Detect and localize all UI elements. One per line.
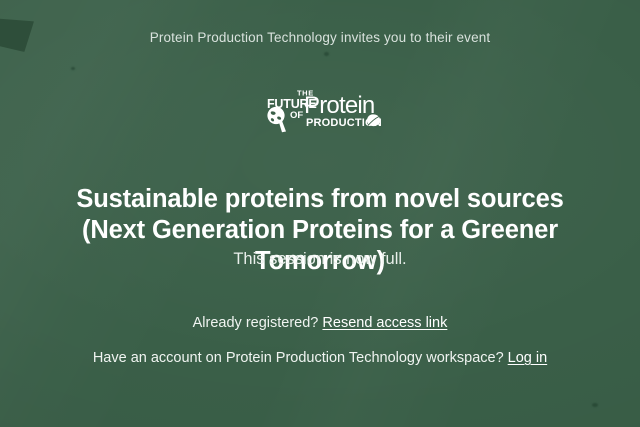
registered-prompt-label: Already registered? [193,315,319,331]
logo-of: OF [290,110,303,121]
logo-icon: THE FUTURE OF Protein PRODUCTION [259,86,381,136]
session-status: This session is now full. [0,248,640,270]
footer-links: Already registered? Resend access link H… [60,311,580,371]
logo-protein: Protein [304,92,374,119]
event-invite-page: Protein Production Technology invites yo… [0,0,640,427]
resend-row: Already registered? Resend access link [60,311,580,336]
account-prompt-label: Have an account on Protein Production Te… [93,350,504,366]
resend-access-link[interactable]: Resend access link [322,315,447,331]
invite-line: Protein Production Technology invites yo… [0,29,640,47]
log-in-link[interactable]: Log in [508,350,548,366]
page-content: Protein Production Technology invites yo… [0,0,640,427]
future-of-protein-production-logo: THE FUTURE OF Protein PRODUCTION [259,86,381,136]
login-row: Have an account on Protein Production Te… [60,346,580,371]
